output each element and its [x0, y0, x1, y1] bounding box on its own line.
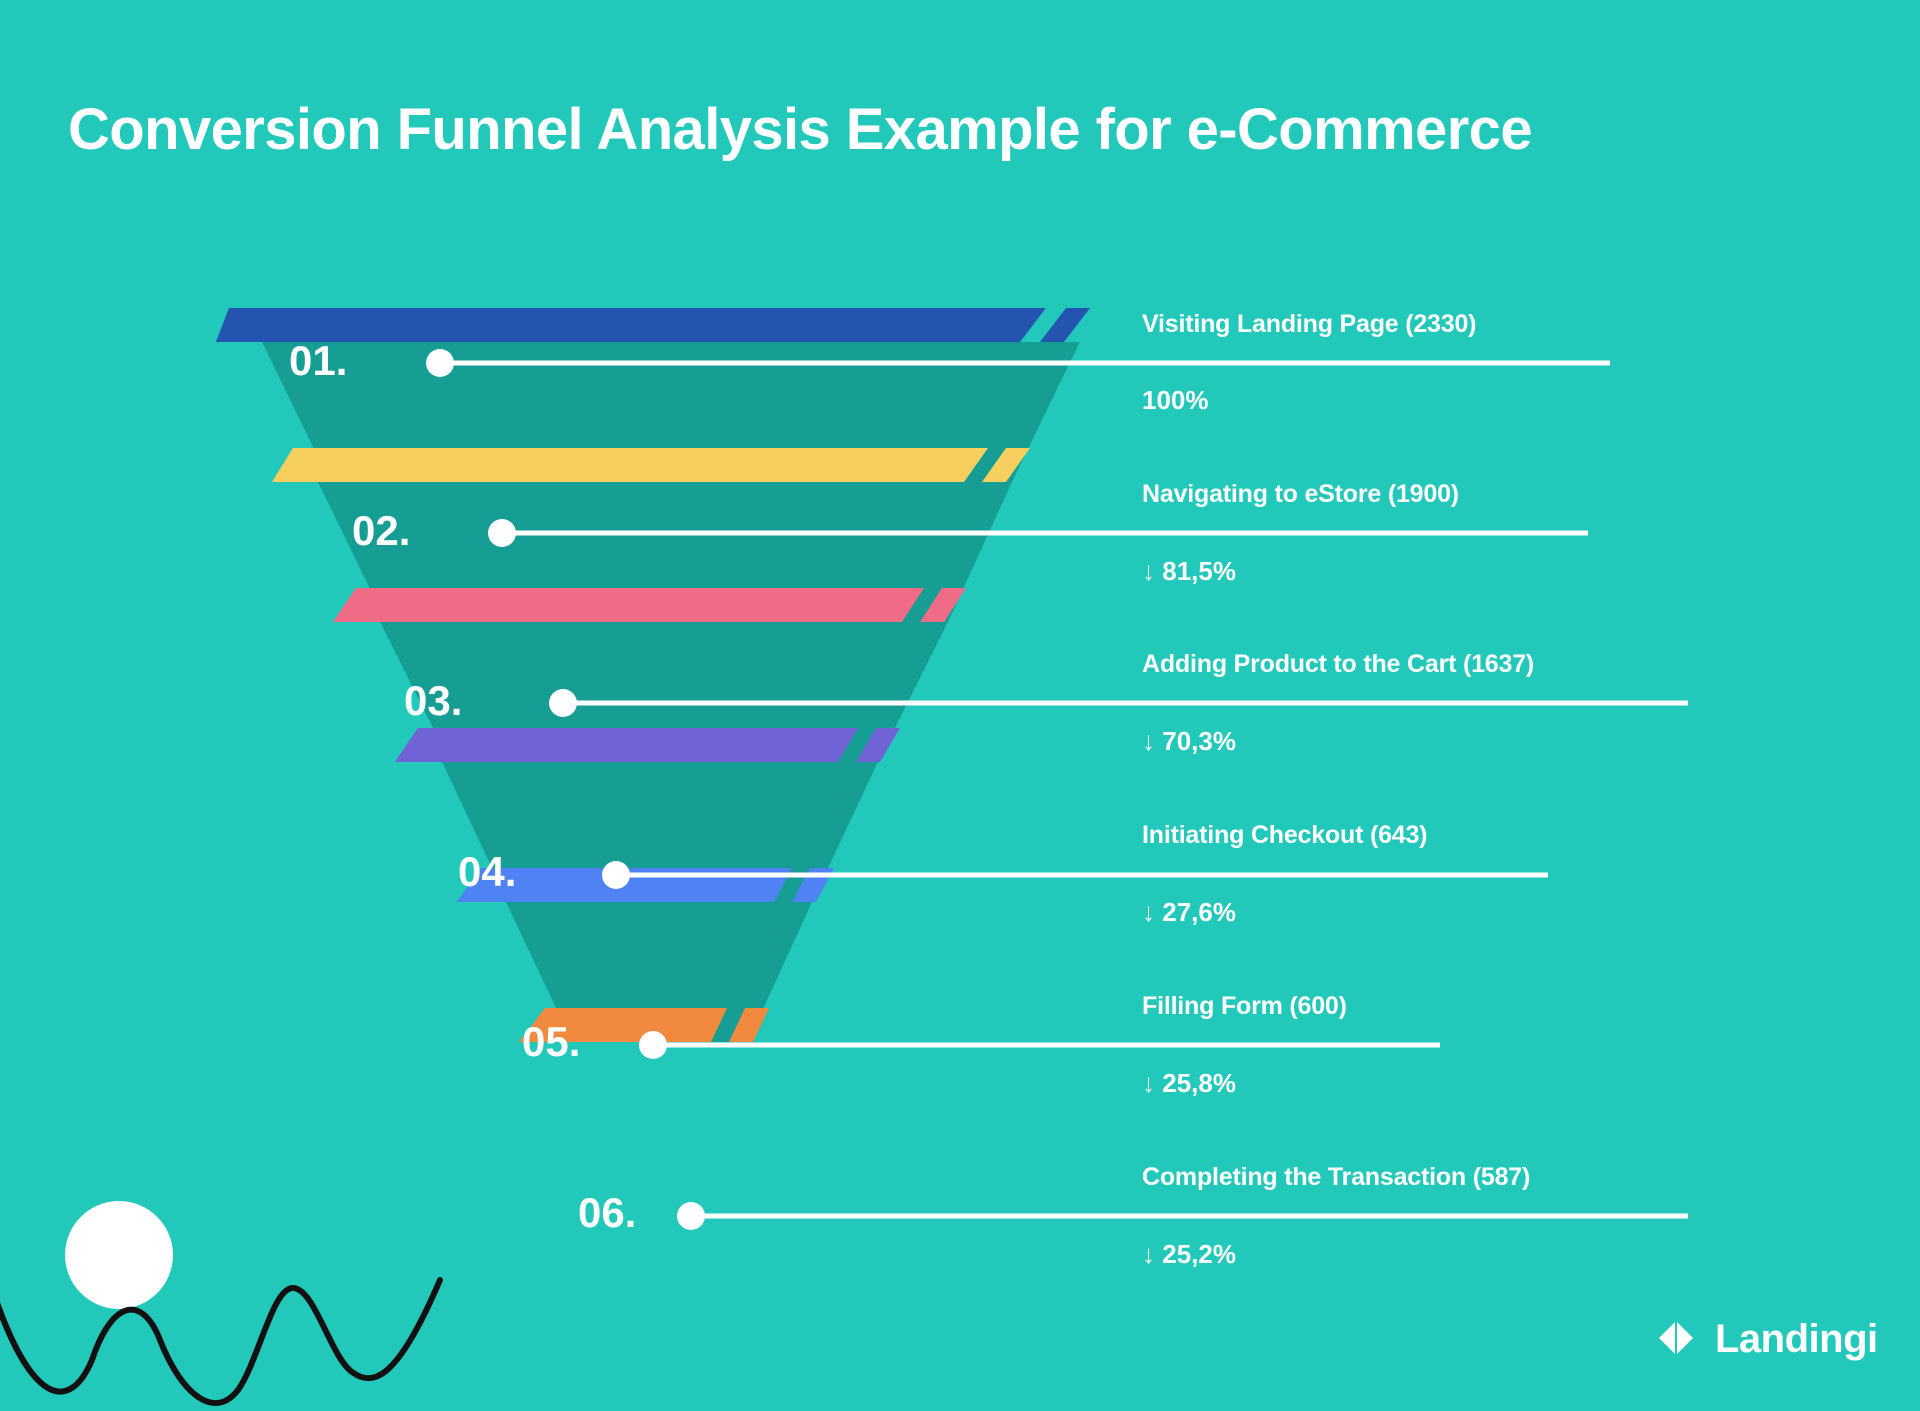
funnel-step-4-body: [395, 728, 858, 762]
step-arrow-4: ↓: [1142, 897, 1155, 927]
brand-name: Landingi: [1715, 1317, 1878, 1362]
step-number-5: 05.: [522, 1018, 580, 1066]
step-label-3: Adding Product to the Cart (1637): [1142, 650, 1534, 679]
step-percent-5: ↓ 25,8%: [1142, 1068, 1236, 1099]
step-number-1: 01.: [289, 337, 347, 385]
step-label-2: Navigating to eStore (1900): [1142, 480, 1459, 509]
step-label-4: Initiating Checkout (643): [1142, 821, 1427, 850]
step-label-6: Completing the Transaction (587): [1142, 1163, 1530, 1192]
landingi-diamond-icon: [1655, 1316, 1701, 1362]
step-percent-6: ↓ 25,2%: [1142, 1239, 1236, 1270]
funnel-step-2-body: [272, 448, 988, 482]
infographic-canvas: Conversion Funnel Analysis Example for e…: [0, 0, 1920, 1411]
step-percent-3: ↓ 70,3%: [1142, 726, 1236, 757]
white-circle-icon: [65, 1201, 173, 1309]
step-arrow-2: ↓: [1142, 556, 1155, 586]
funnel-step-2[interactable]: [272, 448, 1030, 482]
step-arrow-6: ↓: [1142, 1239, 1155, 1269]
funnel-step-3[interactable]: [333, 588, 966, 622]
step-percent-value-4: 27,6%: [1162, 897, 1236, 927]
step-percent-value-5: 25,8%: [1162, 1068, 1236, 1098]
step-label-5: Filling Form (600): [1142, 992, 1347, 1021]
step-arrow-5: ↓: [1142, 1068, 1155, 1098]
leader-dot-1: [426, 349, 454, 377]
leader-dot-2: [488, 519, 516, 547]
funnel-shadow-layer: [262, 342, 1080, 1042]
leader-dot-4: [602, 861, 630, 889]
step-label-1: Visiting Landing Page (2330): [1142, 310, 1476, 339]
step-percent-value-2: 81,5%: [1162, 556, 1236, 586]
step-number-4: 04.: [458, 848, 516, 896]
step-percent-2: ↓ 81,5%: [1142, 556, 1236, 587]
step-arrow-3: ↓: [1142, 726, 1155, 756]
brand-logo[interactable]: Landingi: [1655, 1316, 1878, 1362]
step-number-6: 06.: [578, 1189, 636, 1237]
step-percent-1: 100%: [1142, 385, 1209, 416]
step-percent-value-6: 25,2%: [1162, 1239, 1236, 1269]
funnel-step-4[interactable]: [395, 728, 900, 762]
funnel-step-1-slice: [1040, 308, 1090, 342]
step-percent-4: ↓ 27,6%: [1142, 897, 1236, 928]
leader-dot-3: [549, 689, 577, 717]
step-percent-value-1: 100%: [1142, 385, 1209, 415]
step-number-3: 03.: [404, 677, 462, 725]
leader-dot-5: [639, 1031, 667, 1059]
step-percent-value-3: 70,3%: [1162, 726, 1236, 756]
funnel-chart: [0, 0, 1920, 1411]
leader-dot-6: [677, 1202, 705, 1230]
black-wave-icon: [0, 1276, 440, 1403]
step-number-2: 02.: [352, 507, 410, 555]
funnel-step-3-body: [333, 588, 924, 622]
